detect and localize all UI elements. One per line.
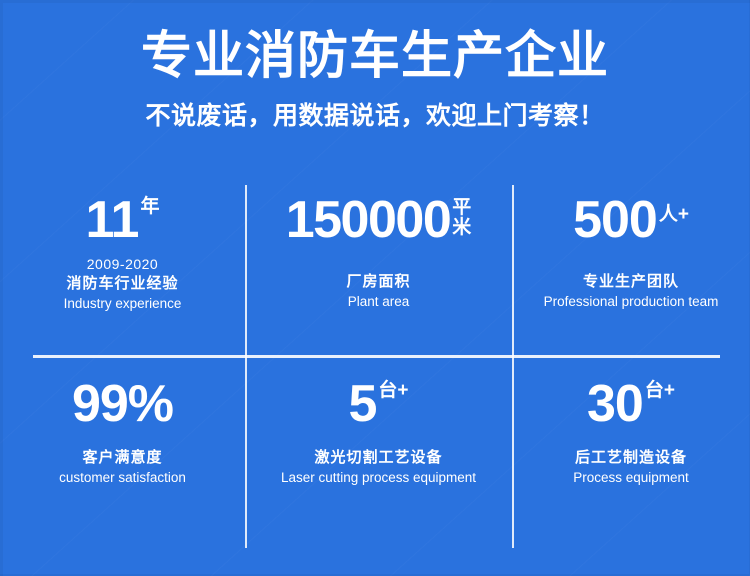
stat-cell-production-team: 500 人+ 专业生产团队 Professional production te… — [512, 185, 750, 355]
stat-labels: 客户满意度 customer satisfaction — [59, 447, 186, 487]
stat-label-en: Process equipment — [573, 468, 689, 487]
stat-value-row: 5 台+ — [348, 377, 408, 431]
stat-daterange: 2009-2020 — [64, 255, 182, 273]
stat-label-cn: 后工艺制造设备 — [573, 447, 689, 468]
page-subtitle: 不说废话，用数据说话，欢迎上门考察！ — [0, 100, 750, 132]
stat-value: 150000 — [286, 193, 451, 247]
stat-cell-process-equipment: 30 台+ 后工艺制造设备 Process equipment — [512, 355, 750, 551]
stat-cell-customer-satisfaction: 99% 客户满意度 customer satisfaction — [0, 355, 245, 551]
promo-poster: 专业消防车生产企业 不说废话，用数据说话，欢迎上门考察！ 11 年 2009-2… — [0, 0, 750, 576]
page-title: 专业消防车生产企业 — [0, 26, 750, 86]
stat-unit-line-2: 米 — [452, 218, 471, 238]
stat-value-row: 30 台+ — [587, 377, 675, 431]
poster-header: 专业消防车生产企业 不说废话，用数据说话，欢迎上门考察！ — [0, 26, 750, 132]
stat-value: 11 — [86, 193, 139, 247]
stat-labels: 激光切割工艺设备 Laser cutting process equipment — [281, 447, 476, 487]
stat-labels: 厂房面积 Plant area — [346, 271, 410, 311]
stat-labels: 专业生产团队 Professional production team — [544, 271, 719, 311]
stat-value: 5 — [348, 377, 376, 431]
stat-label-en: Plant area — [346, 292, 410, 311]
stat-label-en: Laser cutting process equipment — [281, 468, 476, 487]
stat-value: 30 — [587, 377, 643, 431]
stat-label-en: customer satisfaction — [59, 468, 186, 487]
stat-value-row: 99% — [72, 377, 173, 431]
stat-value-row: 500 人+ — [573, 193, 689, 247]
stat-labels: 后工艺制造设备 Process equipment — [573, 447, 689, 487]
stat-value-row: 150000 平 米 — [286, 193, 472, 247]
stat-cell-industry-experience: 11 年 2009-2020 消防车行业经验 Industry experien… — [0, 185, 245, 355]
stat-label-en: Industry experience — [64, 294, 182, 313]
stat-unit: 年 — [138, 193, 159, 217]
stat-cell-laser-cutting-equipment: 5 台+ 激光切割工艺设备 Laser cutting process equi… — [245, 355, 512, 551]
stat-cell-plant-area: 150000 平 米 厂房面积 Plant area — [245, 185, 512, 355]
stat-unit: 台+ — [376, 377, 408, 401]
stat-labels: 2009-2020 消防车行业经验 Industry experience — [64, 255, 182, 313]
stat-unit: 平 米 — [450, 193, 471, 238]
stat-label-cn: 客户满意度 — [59, 447, 186, 468]
stat-unit: 人+ — [657, 193, 689, 225]
stat-value-row: 11 年 — [86, 193, 160, 247]
stat-unit-line-1: 平 — [452, 198, 471, 218]
stat-label-cn: 专业生产团队 — [544, 271, 719, 292]
stats-grid: 11 年 2009-2020 消防车行业经验 Industry experien… — [0, 185, 750, 551]
stat-value: 500 — [573, 193, 657, 247]
stat-label-cn: 激光切割工艺设备 — [281, 447, 476, 468]
stat-unit: 台+ — [643, 377, 675, 401]
stat-value: 99% — [72, 377, 173, 431]
stat-label-en: Professional production team — [544, 292, 719, 311]
stat-label-cn: 厂房面积 — [346, 271, 410, 292]
stat-label-cn: 消防车行业经验 — [64, 273, 182, 294]
